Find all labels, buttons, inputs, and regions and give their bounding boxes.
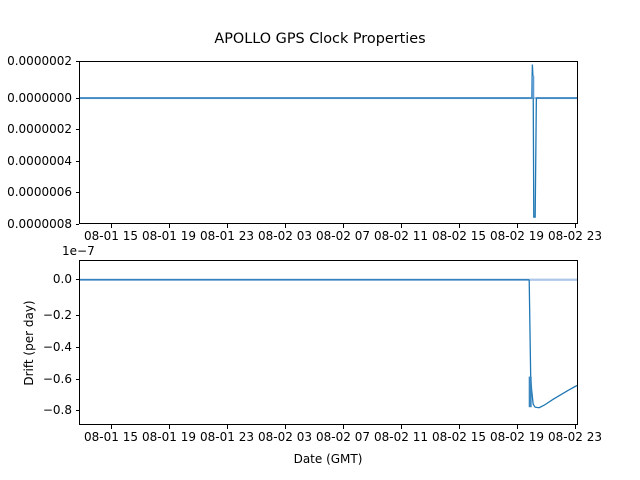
xtick-label-top-3: 08-02 03 [258, 229, 312, 243]
ytick-mark-bottom-1 [76, 315, 80, 316]
ytick-label-top-5: 0.0000008 [0, 217, 72, 231]
drift-plot-lines [80, 261, 577, 424]
ytick-mark-bottom-3 [76, 379, 80, 380]
ytick-mark-bottom-4 [76, 410, 80, 411]
ytick-mark-top-1 [76, 98, 80, 99]
xtick-label-bottom-7: 08-02 19 [490, 430, 544, 444]
xtick-mark-top-8 [575, 224, 576, 228]
drift-event-curve [529, 280, 577, 408]
xtick-mark-top-5 [401, 224, 402, 228]
xtick-mark-bottom-6 [459, 425, 460, 429]
ytick-label-bottom-4: −0.8 [10, 403, 72, 417]
xtick-mark-top-7 [517, 224, 518, 228]
xtick-mark-top-3 [285, 224, 286, 228]
ytick-label-bottom-0: 0.0 [10, 272, 72, 286]
ytick-label-bottom-1: −0.2 [10, 308, 72, 322]
clock-offset-axes [79, 61, 578, 224]
ytick-label-top-2: 0.0000002 [0, 122, 72, 136]
xtick-mark-bottom-4 [343, 425, 344, 429]
drift-axes [79, 260, 578, 425]
page-title: APOLLO GPS Clock Properties [0, 31, 640, 48]
yaxis-label: Drift (per day) [22, 300, 36, 385]
xtick-mark-top-1 [169, 224, 170, 228]
ytick-label-bottom-2: −0.4 [10, 340, 72, 354]
xtick-mark-bottom-0 [111, 425, 112, 429]
ytick-mark-top-4 [76, 192, 80, 193]
xtick-mark-bottom-5 [401, 425, 402, 429]
xtick-label-top-1: 08-01 19 [142, 229, 196, 243]
ytick-label-bottom-3: −0.6 [10, 372, 72, 386]
xtick-mark-bottom-1 [169, 425, 170, 429]
ytick-mark-bottom-2 [76, 347, 80, 348]
xtick-label-top-6: 08-02 15 [432, 229, 486, 243]
xtick-mark-bottom-8 [575, 425, 576, 429]
xtick-label-top-2: 08-01 23 [200, 229, 254, 243]
xtick-label-bottom-6: 08-02 15 [432, 430, 486, 444]
ytick-mark-bottom-0 [76, 279, 80, 280]
xtick-label-top-7: 08-02 19 [490, 229, 544, 243]
xtick-label-bottom-4: 08-02 07 [316, 430, 370, 444]
xtick-mark-top-0 [111, 224, 112, 228]
xtick-mark-top-4 [343, 224, 344, 228]
xtick-label-bottom-3: 08-02 03 [258, 430, 312, 444]
ytick-mark-top-5 [76, 224, 80, 225]
xtick-mark-bottom-3 [285, 425, 286, 429]
ytick-mark-top-3 [76, 161, 80, 162]
xtick-label-top-8: 08-02 23 [548, 229, 602, 243]
clock-offset-spike [529, 64, 577, 217]
xtick-label-top-4: 08-02 07 [316, 229, 370, 243]
ytick-label-top-3: 0.0000004 [0, 154, 72, 168]
xtick-label-bottom-8: 08-02 23 [548, 430, 602, 444]
xtick-label-top-5: 08-02 11 [374, 229, 428, 243]
xtick-mark-top-6 [459, 224, 460, 228]
matplotlib-figure: APOLLO GPS Clock Properties 0.0000002 0.… [0, 0, 640, 480]
xtick-mark-bottom-7 [517, 425, 518, 429]
xtick-mark-top-2 [227, 224, 228, 228]
xtick-mark-bottom-2 [227, 425, 228, 429]
ytick-label-top-4: 0.0000006 [0, 185, 72, 199]
ytick-mark-top-0 [76, 61, 80, 62]
xtick-label-bottom-2: 08-01 23 [200, 430, 254, 444]
xaxis-label: Date (GMT) [294, 452, 363, 466]
ytick-label-top-1: 0.0000000 [0, 91, 72, 105]
ytick-mark-top-2 [76, 129, 80, 130]
clock-offset-plot-lines [80, 62, 577, 223]
xtick-label-bottom-0: 08-01 15 [84, 430, 138, 444]
xtick-label-bottom-5: 08-02 11 [374, 430, 428, 444]
xtick-label-top-0: 08-01 15 [84, 229, 138, 243]
yaxis-offset-text: 1e−7 [62, 244, 95, 258]
ytick-label-top-0: 0.0000002 [0, 54, 72, 68]
xtick-label-bottom-1: 08-01 19 [142, 430, 196, 444]
